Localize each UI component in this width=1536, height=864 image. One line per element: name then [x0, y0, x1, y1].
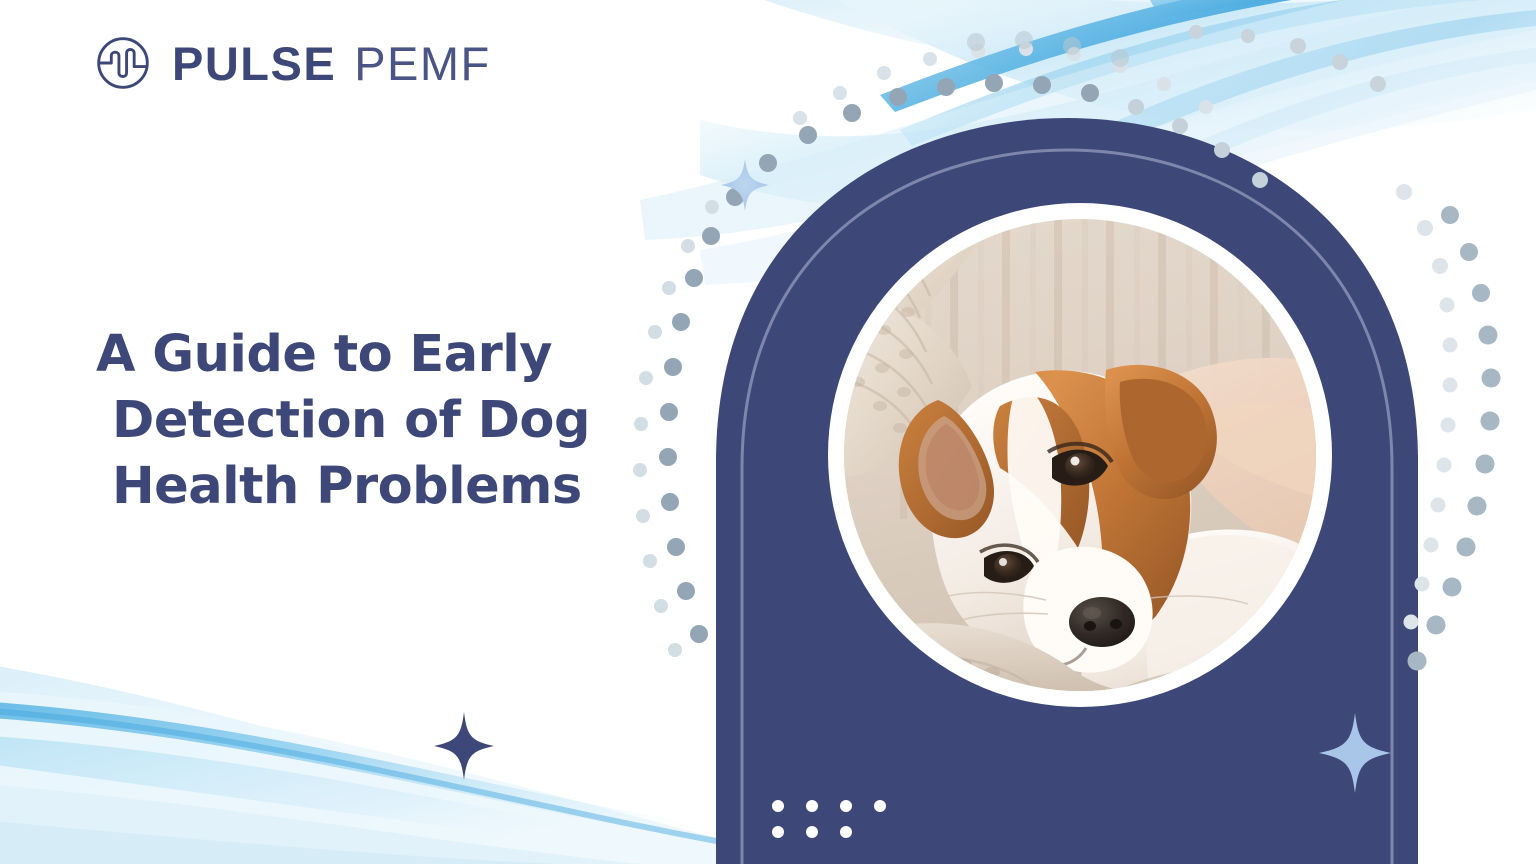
four-point-sparkle-icon — [434, 712, 494, 780]
grid-dot — [772, 800, 784, 812]
dot-grid-row — [772, 826, 886, 838]
brand-wordmark: PULSE PEMF — [172, 40, 491, 87]
dog-photo — [844, 219, 1330, 700]
grid-dot — [874, 800, 886, 812]
page-title: A Guide to Early Detection of Dog Health… — [96, 322, 656, 519]
poster-canvas: PULSE PEMF A Guide to Early Detection of… — [0, 0, 1536, 864]
grid-dot — [806, 800, 818, 812]
headline-line-2: Detection of Dog — [96, 388, 656, 454]
headline-line-1: A Guide to Early — [96, 322, 656, 388]
four-point-sparkle-icon — [721, 159, 769, 211]
headline-line-3: Health Problems — [96, 454, 656, 520]
grid-dot — [840, 826, 852, 838]
pulse-waveform-circle-icon — [96, 36, 150, 90]
brand-logo[interactable]: PULSE PEMF — [96, 36, 491, 90]
four-point-sparkle-icon — [1319, 713, 1391, 793]
brand-name-pemf: PEMF — [354, 40, 491, 87]
dot-grid-row — [772, 800, 886, 812]
grid-dot — [772, 826, 784, 838]
brand-name-pulse: PULSE — [172, 40, 336, 87]
grid-dot — [806, 826, 818, 838]
grid-dot — [840, 800, 852, 812]
panel-dot-grid — [772, 800, 886, 852]
